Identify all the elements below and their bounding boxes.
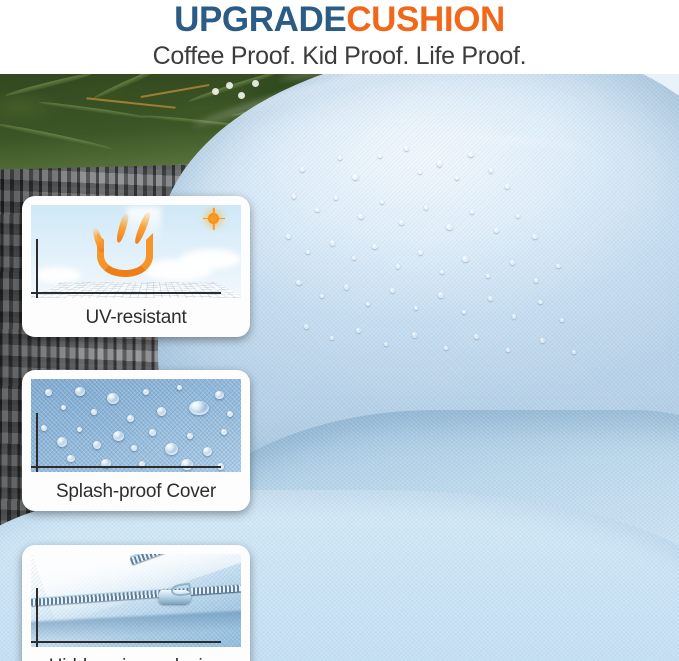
page-subtitle: Coffee Proof. Kid Proof. Life Proof. (0, 41, 679, 71)
axis-line-vertical (36, 588, 38, 647)
quilted-mat-surface (31, 282, 241, 298)
feature-card-uv-resistant[interactable]: UV-resistant (22, 196, 250, 337)
page-title: UPGRADECUSHION (0, 1, 679, 39)
headline-word-upgrade: UPGRADE (174, 0, 346, 39)
axis-line-vertical (36, 239, 38, 298)
splash-proof-thumbnail (31, 379, 241, 472)
headline-word-cushion: CUSHION (346, 0, 505, 39)
uv-resistant-thumbnail (31, 205, 241, 298)
feature-card-hidden-zipper[interactable]: Hidden zipper design (22, 545, 250, 661)
blue-fabric-surface (31, 379, 241, 472)
feature-card-splash-proof[interactable]: Splash-proof Cover (22, 370, 250, 511)
uv-ray-reflection (97, 233, 153, 277)
feature-card-label: Hidden zipper design (31, 647, 241, 661)
feature-card-label: UV-resistant (31, 298, 241, 337)
product-feature-poster: UPGRADECUSHION Coffee Proof. Kid Proof. … (0, 0, 679, 661)
sun-icon (208, 213, 219, 224)
axis-line-horizontal (31, 641, 221, 643)
hidden-zipper-thumbnail (31, 554, 241, 647)
axis-line-horizontal (31, 466, 221, 468)
axis-line-vertical (36, 413, 38, 472)
axis-line-horizontal (31, 292, 221, 294)
header-banner: UPGRADECUSHION Coffee Proof. Kid Proof. … (0, 0, 679, 74)
feature-card-label: Splash-proof Cover (31, 472, 241, 511)
product-photo: UV-resistant (0, 74, 679, 661)
